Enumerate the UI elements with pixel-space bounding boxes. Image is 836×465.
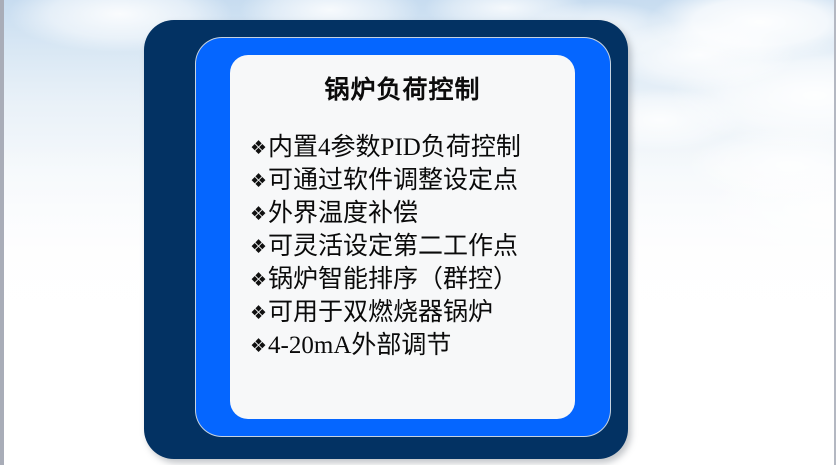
diamond-bullet-icon: ❖ [250, 198, 267, 230]
list-item: ❖ 外界温度补偿 [250, 198, 575, 231]
diamond-bullet-icon: ❖ [250, 231, 267, 263]
diamond-bullet-icon: ❖ [250, 297, 267, 329]
feature-bullet-list: ❖ 内置4参数PID负荷控制 ❖ 可通过软件调整设定点 ❖ 外界温度补偿 ❖ 可… [230, 106, 575, 363]
list-item: ❖ 可通过软件调整设定点 [250, 165, 575, 198]
diamond-bullet-icon: ❖ [250, 132, 267, 164]
middle-blue-frame: 锅炉负荷控制 ❖ 内置4参数PID负荷控制 ❖ 可通过软件调整设定点 ❖ 外界温… [196, 38, 610, 436]
diamond-bullet-icon: ❖ [250, 264, 267, 296]
slide-canvas: 锅炉负荷控制 ❖ 内置4参数PID负荷控制 ❖ 可通过软件调整设定点 ❖ 外界温… [0, 0, 836, 465]
list-item: ❖ 内置4参数PID负荷控制 [250, 132, 575, 165]
list-item: ❖ 锅炉智能排序（群控） [250, 264, 575, 297]
list-item-label: 可用于双燃烧器锅炉 [268, 297, 493, 329]
list-item-label: 外界温度补偿 [268, 198, 418, 230]
list-item: ❖ 可用于双燃烧器锅炉 [250, 297, 575, 330]
slide-left-edge-rule [0, 0, 4, 465]
list-item-label: 4-20mA外部调节 [268, 330, 451, 362]
list-item-label: 锅炉智能排序（群控） [268, 264, 518, 296]
list-item-label: 可灵活设定第二工作点 [268, 231, 518, 263]
list-item-label: 内置4参数PID负荷控制 [268, 132, 521, 164]
card-title: 锅炉负荷控制 [230, 55, 575, 106]
list-item-label: 可通过软件调整设定点 [268, 165, 518, 197]
list-item: ❖ 可灵活设定第二工作点 [250, 231, 575, 264]
inner-content-panel: 锅炉负荷控制 ❖ 内置4参数PID负荷控制 ❖ 可通过软件调整设定点 ❖ 外界温… [230, 55, 575, 419]
outer-navy-frame: 锅炉负荷控制 ❖ 内置4参数PID负荷控制 ❖ 可通过软件调整设定点 ❖ 外界温… [144, 20, 628, 459]
diamond-bullet-icon: ❖ [250, 330, 267, 362]
list-item: ❖ 4-20mA外部调节 [250, 330, 575, 363]
diamond-bullet-icon: ❖ [250, 165, 267, 197]
